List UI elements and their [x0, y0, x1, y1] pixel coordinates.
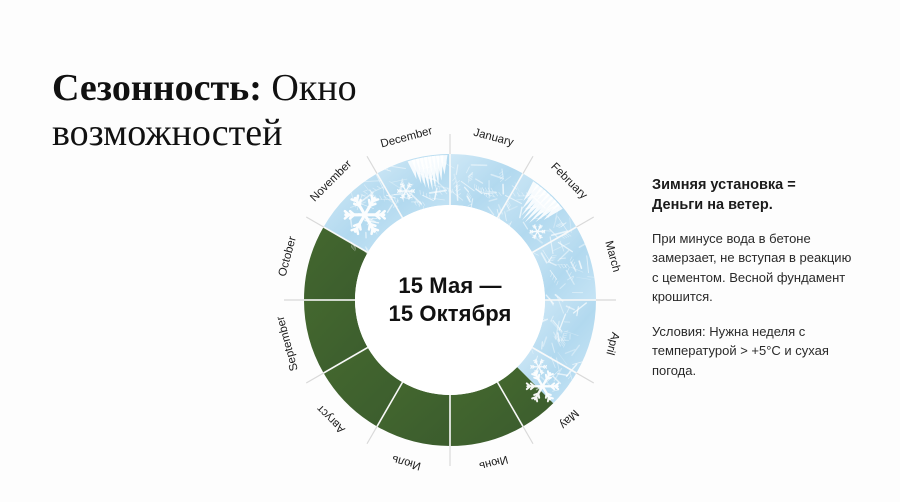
month-label-август: Август	[314, 402, 347, 435]
panel-heading-line-2: Деньги на ветер.	[652, 197, 773, 213]
frost-stroke	[542, 342, 543, 349]
title-remainder: Окно	[262, 67, 357, 109]
panel-paragraph-2: Условия: Нужна неделя с температурой > +…	[652, 322, 860, 380]
month-label-december: December	[379, 125, 434, 150]
slide-root: Сезонность: Окно возможностей	[0, 0, 900, 502]
panel-heading-line-1: Зимняя установка =	[652, 177, 796, 193]
frost-branch	[380, 164, 381, 168]
title-emphasis: Сезонность:	[52, 67, 262, 109]
month-label-october: October	[277, 235, 299, 278]
frost-branch	[571, 385, 574, 388]
frost-branch	[573, 390, 576, 393]
frost-stroke	[558, 340, 568, 341]
month-label-march: March	[602, 240, 622, 274]
month-label-january: January	[472, 127, 515, 149]
panel-paragraph-1: При минусе вода в бетоне замерзает, не в…	[652, 229, 860, 306]
month-label-february: February	[548, 161, 589, 202]
month-label-июнь: Июнь	[478, 453, 509, 472]
frost-branch	[377, 163, 378, 167]
wheel-svg: JanuaryFebruaryMarchAprilMayИюньИюльАвгу…	[260, 110, 640, 490]
month-label-июль: Июль	[391, 453, 422, 472]
seasonality-wheel: JanuaryFebruaryMarchAprilMayИюньИюльАвгу…	[260, 110, 640, 490]
frost-stroke	[486, 191, 496, 192]
month-label-september: September	[275, 315, 301, 373]
frost-branch	[383, 165, 384, 169]
panel-heading: Зимняя установка = Деньги на ветер.	[652, 176, 860, 215]
frost-stroke	[457, 186, 458, 200]
info-panel: Зимняя установка = Деньги на ветер. При …	[652, 176, 860, 380]
month-label-april: April	[603, 331, 621, 356]
month-label-may: May	[557, 407, 581, 431]
wheel-hub	[355, 205, 545, 395]
